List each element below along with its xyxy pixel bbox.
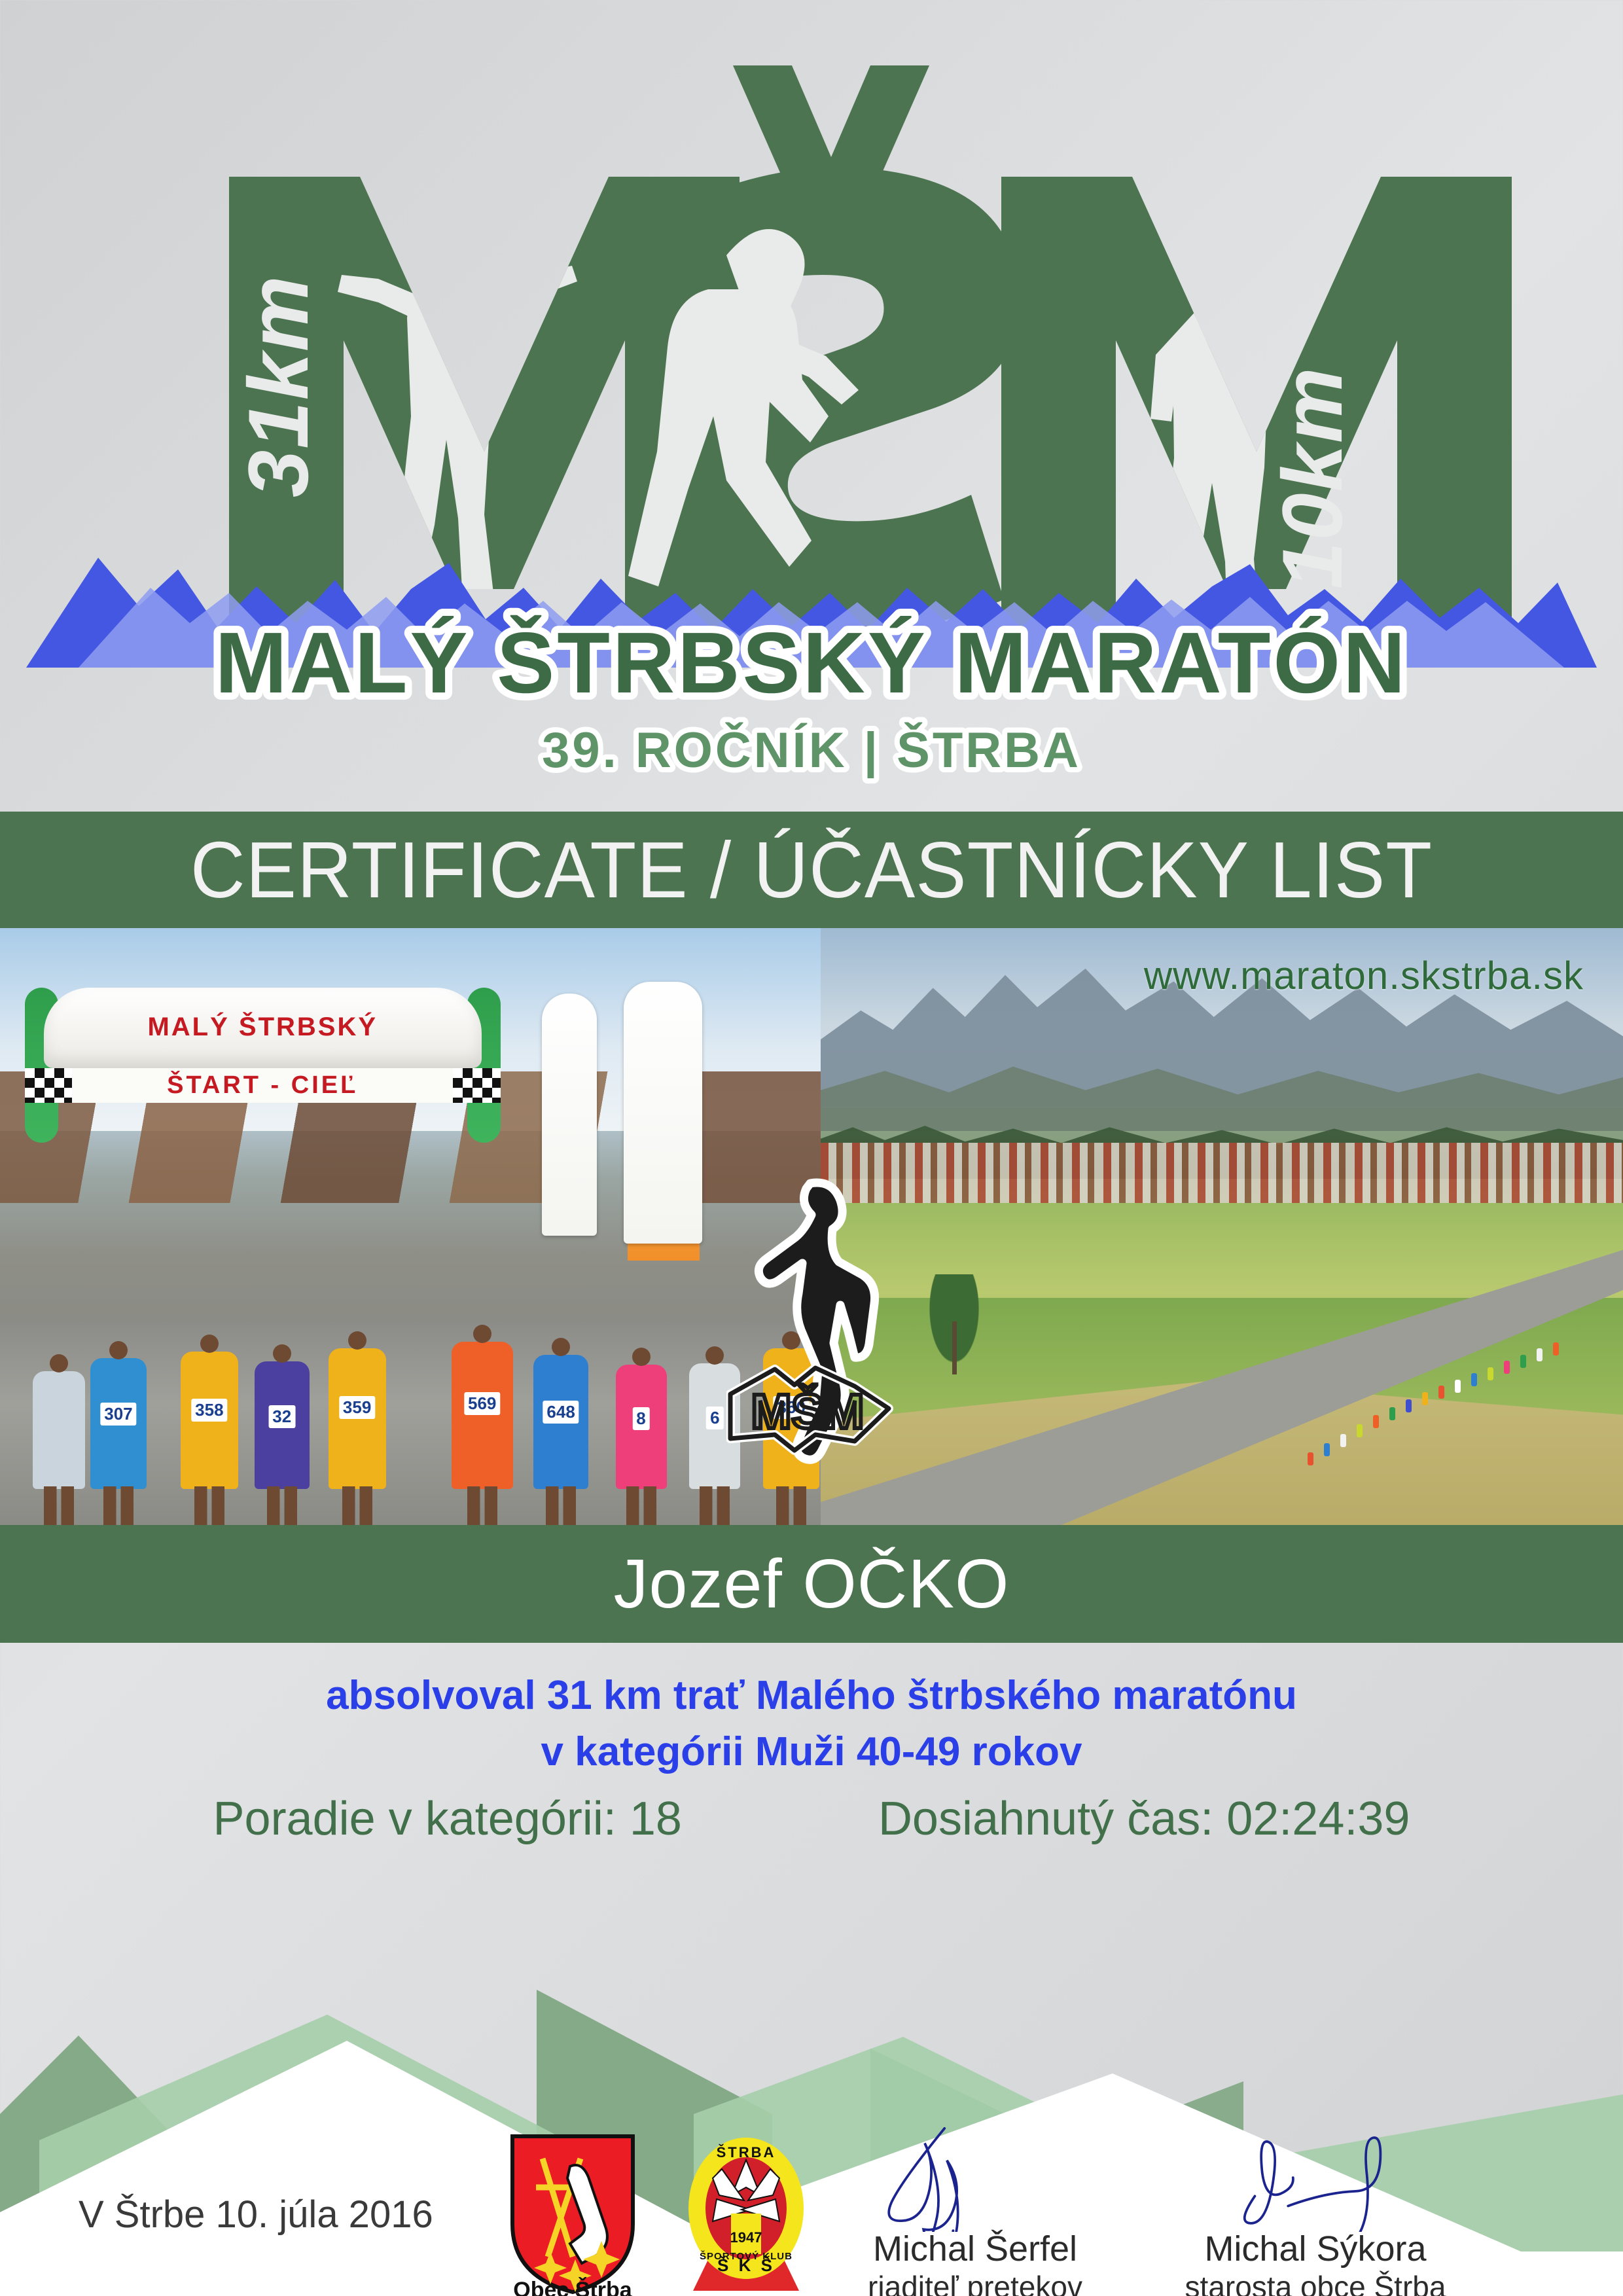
- runner-bib: 359: [339, 1396, 375, 1419]
- runner-head: [200, 1335, 219, 1353]
- athlete-name: Jozef OČKO: [614, 1545, 1010, 1624]
- runner-head: [552, 1338, 570, 1356]
- runner-head: [273, 1344, 291, 1363]
- runner-bib: 6: [706, 1407, 723, 1429]
- checker-left: [25, 1068, 73, 1102]
- runner-bib: 8: [632, 1407, 649, 1430]
- rank-in-category: Poradie v kategórii: 18: [213, 1792, 682, 1846]
- msm-runner-sticker: MŠM: [726, 1178, 916, 1466]
- runner-bib: 569: [464, 1392, 500, 1415]
- runner-legs: [44, 1486, 74, 1525]
- runner-head: [348, 1331, 366, 1350]
- event-title: MALÝ ŠTRBSKÝ MARATÓN: [215, 615, 1408, 711]
- sks-ring-text: ŠPORTOVÝ KLUB: [700, 2250, 793, 2262]
- obec-strba-coat-of-arms: [507, 2132, 638, 2296]
- signature-block-mayor: Michal Sýkora starosta obce Štrba: [1178, 2127, 1453, 2296]
- runner-figure: 359: [329, 1348, 386, 1489]
- event-subtitle: 39. ROČNÍK | ŠTRBA: [542, 723, 1081, 779]
- footer: V Štrbe 10. júla 2016 Obec Štrba ŠTRBA: [0, 2127, 1623, 2296]
- logo-block: 31km 10km: [0, 0, 1623, 812]
- runner-figure: 307: [90, 1358, 147, 1489]
- runner-bib: 358: [191, 1399, 227, 1422]
- signature-role: riaditeľ pretekov: [844, 2269, 1106, 2296]
- certificate-title: CERTIFICATE / ÚČASTNÍCKY LIST: [190, 824, 1433, 916]
- runner-head: [473, 1325, 491, 1343]
- runner-pack: 307 358 32 359 569 648: [0, 1179, 821, 1489]
- runner-head: [705, 1346, 724, 1365]
- certificate-title-bar: CERTIFICATE / ÚČASTNÍCKY LIST: [0, 812, 1623, 928]
- achievement-line-2: v kategórii Muži 40-49 rokov: [0, 1724, 1623, 1780]
- sks-top-text: ŠTRBA: [717, 2144, 776, 2161]
- runner-bib: 648: [543, 1401, 579, 1424]
- signature-mark: [1186, 2127, 1444, 2232]
- arch-text-line-1: MALÝ ŠTRBSKÝ: [25, 1013, 501, 1042]
- obec-strba-label: Obec Štrba: [507, 2278, 638, 2296]
- runner-legs: [194, 1486, 224, 1525]
- signature-block-race-director: Michal Šerfel riaditeľ pretekov: [844, 2127, 1106, 2296]
- runner-head: [632, 1348, 651, 1366]
- finish-time: Dosiahnutý čas: 02:24:39: [878, 1792, 1410, 1846]
- details-section: absolvoval 31 km trať Malého štrbského m…: [0, 1643, 1623, 1905]
- achievement-line-1: absolvoval 31 km trať Malého štrbského m…: [0, 1668, 1623, 1724]
- distance-31km: 31km: [230, 275, 326, 498]
- signature-role: starosta obce Štrba: [1178, 2269, 1453, 2296]
- sks-club-logo: ŠTRBA 1947 Š K Š ŠPORTOVÝ KLUB: [677, 2131, 815, 2295]
- runner-head: [109, 1341, 128, 1359]
- runner-legs: [626, 1486, 656, 1525]
- photo-start-line: MALÝ ŠTRBSKÝ MARATÓN ŠTART - CIEĽ 307 35…: [0, 928, 821, 1525]
- results-row: Poradie v kategórii: 18 Dosiahnutý čas: …: [0, 1792, 1623, 1846]
- distance-10km: 10km: [1264, 367, 1360, 590]
- athlete-name-bar: Jozef OČKO: [0, 1525, 1623, 1643]
- village-rooftops: [821, 1143, 1623, 1208]
- runner-figure: 569: [452, 1342, 513, 1489]
- runner-figure: 648: [533, 1355, 588, 1489]
- runner-head: [50, 1354, 68, 1372]
- sticker-msm-wordmark: MŠM: [730, 1368, 889, 1450]
- runner-figure: 8: [616, 1365, 667, 1489]
- runner-bib: 307: [100, 1403, 136, 1426]
- issue-place-date: V Štrbe 10. júla 2016: [79, 2193, 433, 2236]
- runner-legs: [546, 1486, 576, 1525]
- photo-course-landscape: www.maraton.skstrba.sk: [821, 928, 1623, 1525]
- runner-legs: [267, 1486, 297, 1525]
- runner-legs: [342, 1486, 372, 1525]
- letter-m-right: [1001, 177, 1512, 628]
- runner-figure: [33, 1371, 85, 1489]
- runner-figure: 358: [181, 1352, 238, 1489]
- signature-name: Michal Šerfel: [844, 2229, 1106, 2269]
- website-url: www.maraton.skstrba.sk: [1144, 953, 1584, 998]
- svg-text:MŠM: MŠM: [751, 1384, 865, 1439]
- runner-legs: [103, 1486, 134, 1525]
- checker-right: [453, 1068, 501, 1102]
- runner-legs: [467, 1486, 497, 1525]
- signature-name: Michal Sýkora: [1178, 2229, 1453, 2269]
- runner-legs: [700, 1486, 730, 1525]
- sks-year: 1947: [730, 2229, 762, 2246]
- runner-bib: 32: [268, 1405, 295, 1428]
- lone-tree: [925, 1274, 984, 1372]
- start-finish-banner: ŠTART - CIEĽ: [72, 1068, 453, 1102]
- runner-figure: 32: [255, 1361, 310, 1489]
- inflatable-start-arch: MALÝ ŠTRBSKÝ MARATÓN ŠTART - CIEĽ: [25, 988, 501, 1143]
- signature-mark: [852, 2127, 1098, 2232]
- distant-runner-line: [1302, 1322, 1575, 1477]
- msm-logo-graphic: 31km 10km: [0, 0, 1623, 812]
- runner-legs: [776, 1486, 806, 1525]
